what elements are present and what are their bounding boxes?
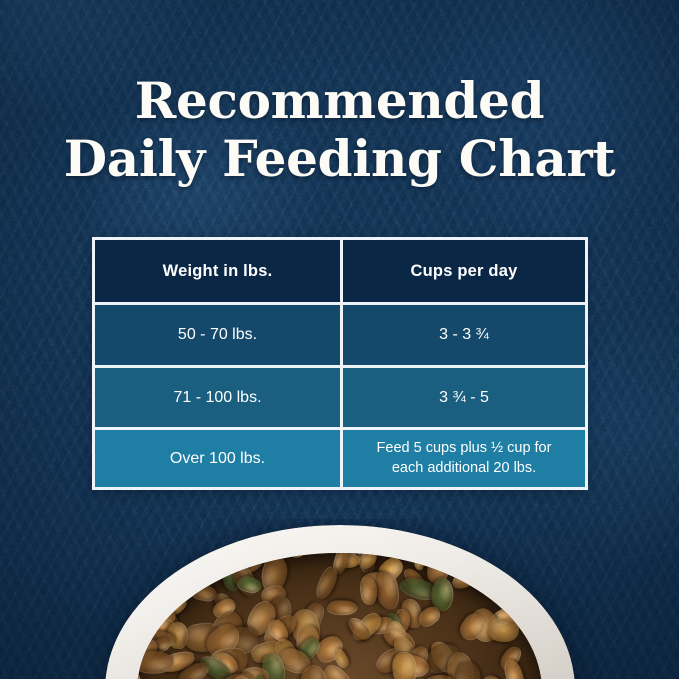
- page-title: Recommended Daily Feeding Chart: [0, 72, 679, 188]
- header-cell-weight: Weight in lbs.: [95, 240, 340, 302]
- feeding-chart-table: Weight in lbs. Cups per day 50 - 70 lbs.…: [92, 237, 588, 490]
- kibble-piece: [537, 646, 542, 675]
- header-cell-cups: Cups per day: [340, 240, 585, 302]
- row2-cell-weight: 71 - 100 lbs.: [95, 368, 340, 427]
- row3-cell-cups: Feed 5 cups plus ½ cup for each addition…: [340, 430, 585, 487]
- row3-cups-line-2: each additional 20 lbs.: [377, 459, 552, 478]
- title-line-2: Daily Feeding Chart: [0, 130, 679, 188]
- kibble-piece: [501, 658, 526, 679]
- kibble-piece: [488, 617, 520, 643]
- table-header-row: Weight in lbs. Cups per day: [95, 240, 585, 302]
- table-row: 50 - 70 lbs. 3 - 3 ¾: [95, 302, 585, 365]
- kibble-piece: [413, 553, 425, 571]
- kibble-pile: [137, 553, 541, 679]
- row1-cell-cups: 3 - 3 ¾: [340, 305, 585, 365]
- row1-cell-weight: 50 - 70 lbs.: [95, 305, 340, 365]
- table-row: 71 - 100 lbs. 3 ¾ - 5: [95, 365, 585, 427]
- kibble-piece: [285, 553, 321, 562]
- bowl: [105, 525, 575, 679]
- title-line-1: Recommended: [0, 72, 679, 130]
- row2-cell-cups: 3 ¾ - 5: [340, 368, 585, 427]
- kibble-piece: [189, 582, 217, 602]
- dog-food-bowl-image: [0, 519, 679, 679]
- feeding-chart-poster: Recommended Daily Feeding Chart Weight i…: [0, 0, 679, 679]
- kibble-piece: [235, 575, 262, 595]
- row3-cell-weight: Over 100 lbs.: [95, 430, 340, 487]
- bowl-interior: [137, 553, 541, 679]
- kibble-piece: [327, 600, 358, 616]
- table-row: Over 100 lbs. Feed 5 cups plus ½ cup for…: [95, 427, 585, 487]
- row3-cups-line-1: Feed 5 cups plus ½ cup for: [377, 439, 552, 458]
